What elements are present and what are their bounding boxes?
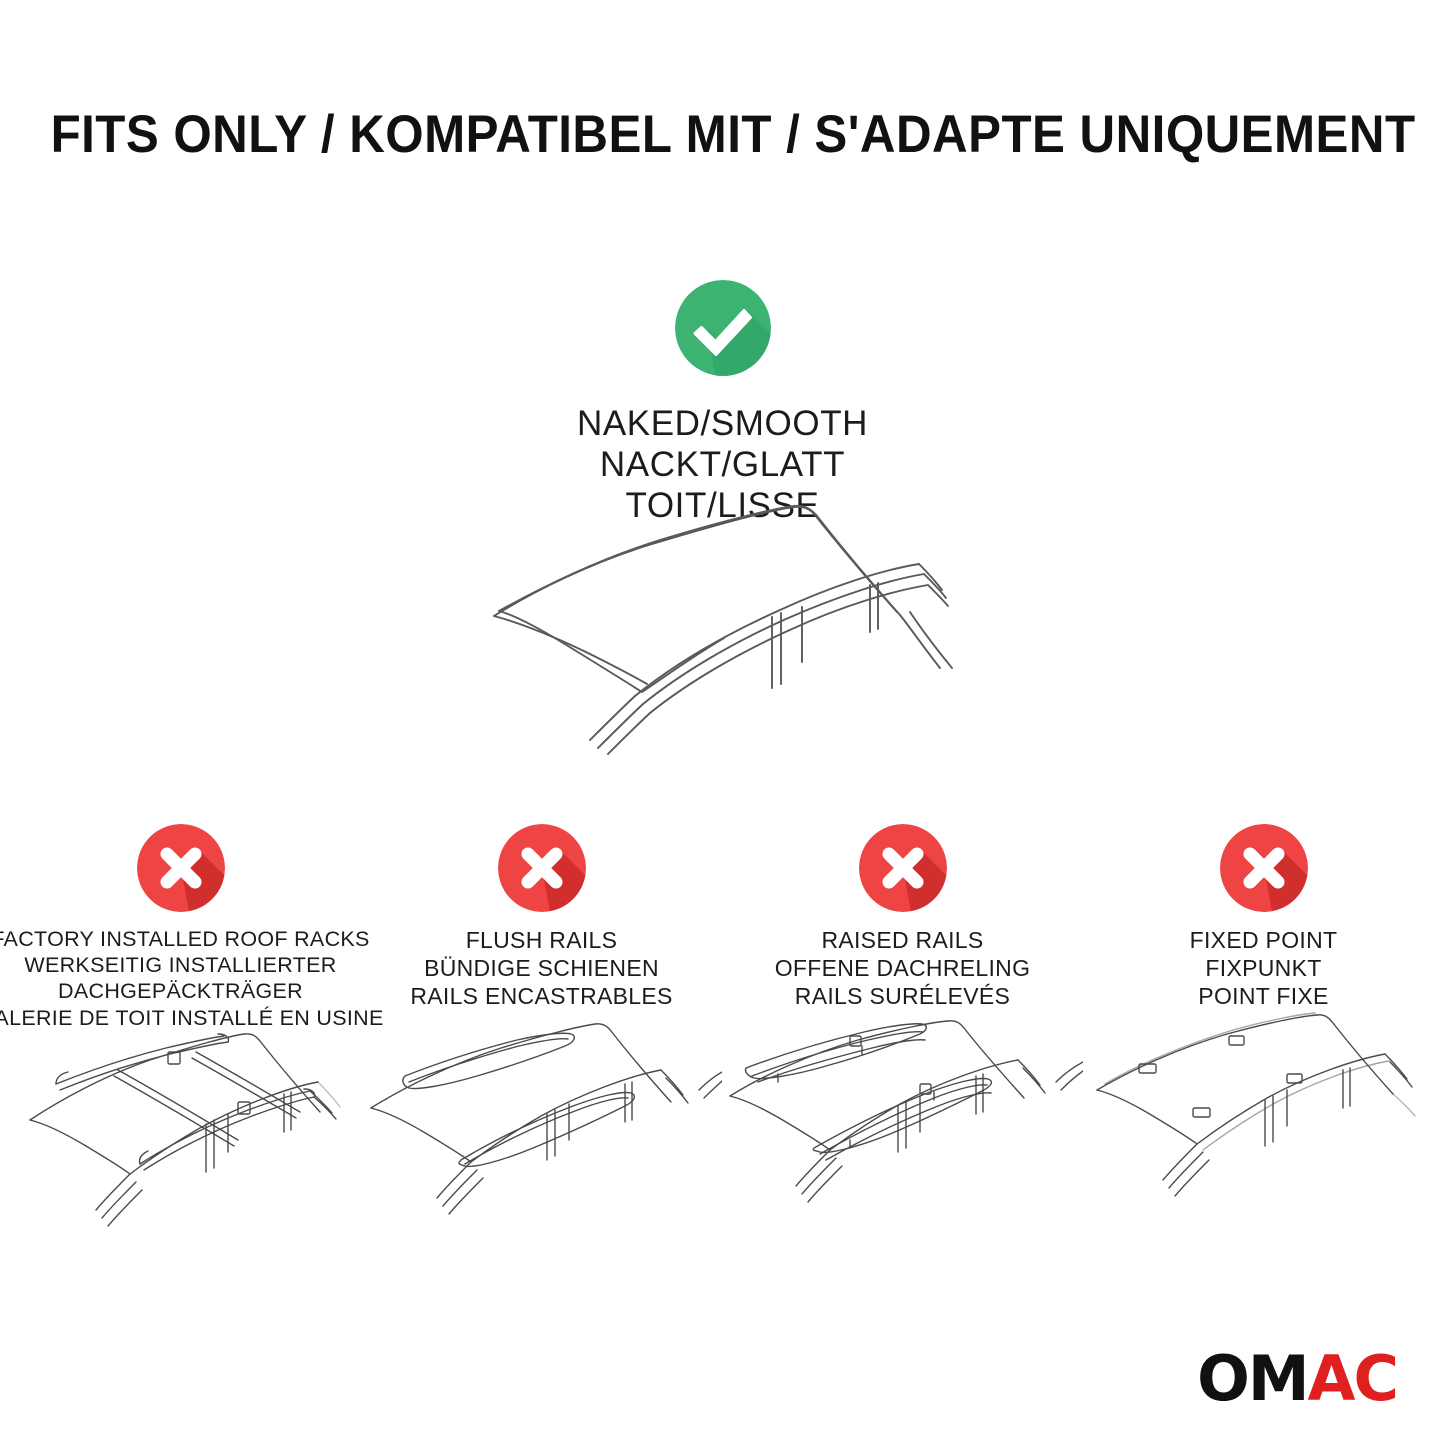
- incompatible-item-factory-racks: FACTORY INSTALLED ROOF RACKS WERKSEITIG …: [0, 824, 361, 1031]
- brand-logo-red: AC: [1308, 1348, 1397, 1410]
- caption-line-2: OFFENE DACHRELING: [775, 954, 1031, 982]
- brand-logo: OMAC: [1197, 1348, 1397, 1410]
- incompatible-caption: FIXED POINT FIXPUNKT POINT FIXE: [1190, 926, 1338, 1010]
- car-roof-raised-rails-illustration: [722, 1012, 1083, 1242]
- caption-line-2: WERKSEITIG INSTALLIERTER: [0, 952, 384, 978]
- check-circle-icon: [675, 280, 771, 376]
- car-roof-factory-racks-illustration: [0, 1012, 361, 1242]
- x-circle-icon: [1220, 824, 1308, 912]
- x-circle-icon: [137, 824, 225, 912]
- compatible-line-en: NAKED/SMOOTH: [577, 404, 868, 445]
- caption-line-3: RAILS SURÉLEVÉS: [775, 982, 1031, 1010]
- page-title: FITS ONLY / KOMPATIBEL MIT / S'ADAPTE UN…: [51, 104, 1395, 165]
- compatibility-infographic: FITS ONLY / KOMPATIBEL MIT / S'ADAPTE UN…: [0, 0, 1445, 1445]
- x-circle-icon: [859, 824, 947, 912]
- brand-logo-dark: OM: [1197, 1348, 1307, 1410]
- caption-line-3: POINT FIXE: [1190, 982, 1338, 1010]
- incompatible-item-fixed-point: FIXED POINT FIXPUNKT POINT FIXE: [1083, 824, 1444, 1031]
- incompatible-caption: FLUSH RAILS BÜNDIGE SCHIENEN RAILS ENCAS…: [410, 926, 672, 1010]
- caption-line-3: RAILS ENCASTRABLES: [410, 982, 672, 1010]
- car-roof-flush-rails-illustration: [361, 1012, 722, 1242]
- caption-line-3: DACHGEPÄCKTRÄGER: [0, 978, 384, 1004]
- incompatible-item-flush-rails: FLUSH RAILS BÜNDIGE SCHIENEN RAILS ENCAS…: [361, 824, 722, 1031]
- caption-line-2: FIXPUNKT: [1190, 954, 1338, 982]
- incompatible-illustrations: [0, 1012, 1445, 1242]
- incompatible-caption: RAISED RAILS OFFENE DACHRELING RAILS SUR…: [775, 926, 1031, 1010]
- caption-line-1: FACTORY INSTALLED ROOF RACKS: [0, 926, 384, 952]
- incompatible-item-raised-rails: RAISED RAILS OFFENE DACHRELING RAILS SUR…: [722, 824, 1083, 1031]
- incompatible-section: FACTORY INSTALLED ROOF RACKS WERKSEITIG …: [0, 824, 1445, 1031]
- x-circle-icon: [498, 824, 586, 912]
- compatible-line-de: NACKT/GLATT: [577, 445, 868, 486]
- caption-line-1: FIXED POINT: [1190, 926, 1338, 954]
- caption-line-1: FLUSH RAILS: [410, 926, 672, 954]
- car-roof-naked-smooth-illustration: [472, 488, 992, 756]
- car-roof-fixed-point-illustration: [1083, 1012, 1444, 1242]
- caption-line-2: BÜNDIGE SCHIENEN: [410, 954, 672, 982]
- caption-line-1: RAISED RAILS: [775, 926, 1031, 954]
